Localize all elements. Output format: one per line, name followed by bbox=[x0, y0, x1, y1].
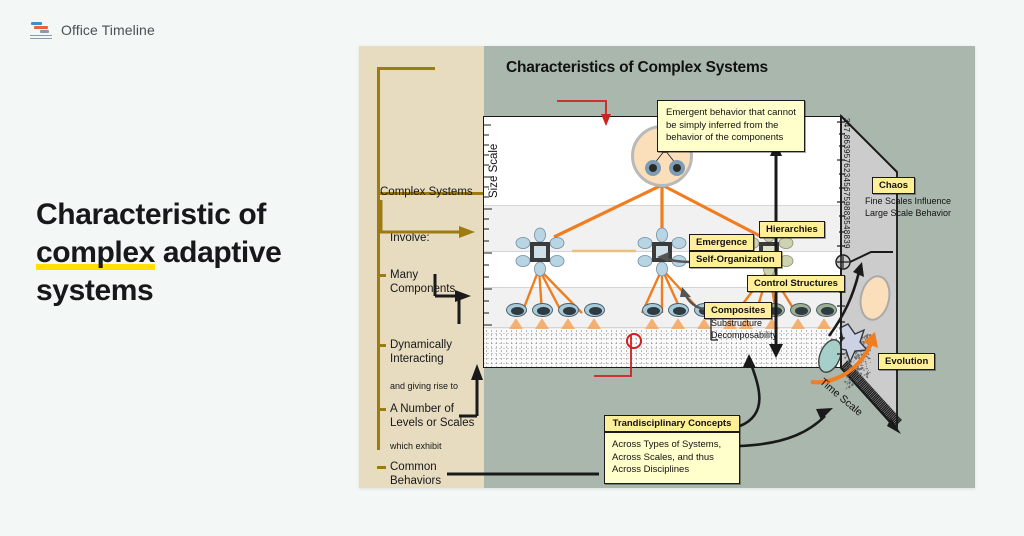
annotation-substructure-list: Substructure Decomposability bbox=[711, 318, 777, 341]
headline-highlight: complex bbox=[36, 236, 155, 270]
annotation-substructure: Substructure bbox=[711, 318, 777, 330]
tag-evolution[interactable]: Evolution bbox=[878, 353, 935, 370]
annotation-decomposability: Decomposability bbox=[711, 330, 777, 342]
callout-emergent-behavior: Emergent behavior that cannot be simply … bbox=[657, 100, 805, 152]
slide-canvas: Office Timeline Characteristic of comple… bbox=[0, 0, 1024, 536]
annotation-chaos-sub: Fine Scales Influence Large Scale Behavi… bbox=[865, 196, 951, 219]
gantt-chart-icon bbox=[30, 21, 52, 39]
brand-name: Office Timeline bbox=[61, 22, 155, 38]
brand-logo-group: Office Timeline bbox=[30, 21, 155, 39]
tag-hierarchies[interactable]: Hierarchies bbox=[759, 221, 825, 238]
callout-transdisciplinary-body: Across Types of Systems, Across Scales, … bbox=[604, 432, 740, 484]
tag-self-organization[interactable]: Self-Organization bbox=[689, 251, 782, 268]
tag-control-structures[interactable]: Control Structures bbox=[747, 275, 845, 292]
tag-transdisciplinary-concepts[interactable]: Trandisciplinary Concepts bbox=[604, 415, 740, 432]
tag-chaos[interactable]: Chaos bbox=[872, 177, 915, 194]
headline-line-3: systems bbox=[36, 274, 153, 307]
page-title: Characteristic of complex adaptive syste… bbox=[36, 196, 336, 310]
figure-container: Characteristics of Complex Systems Compl… bbox=[359, 46, 975, 488]
tag-composites[interactable]: Composites bbox=[704, 302, 772, 319]
headline-line-1: Characteristic of bbox=[36, 198, 266, 231]
headline-line-2-rest: adaptive bbox=[155, 236, 281, 269]
tag-emergence[interactable]: Emergence bbox=[689, 234, 754, 251]
